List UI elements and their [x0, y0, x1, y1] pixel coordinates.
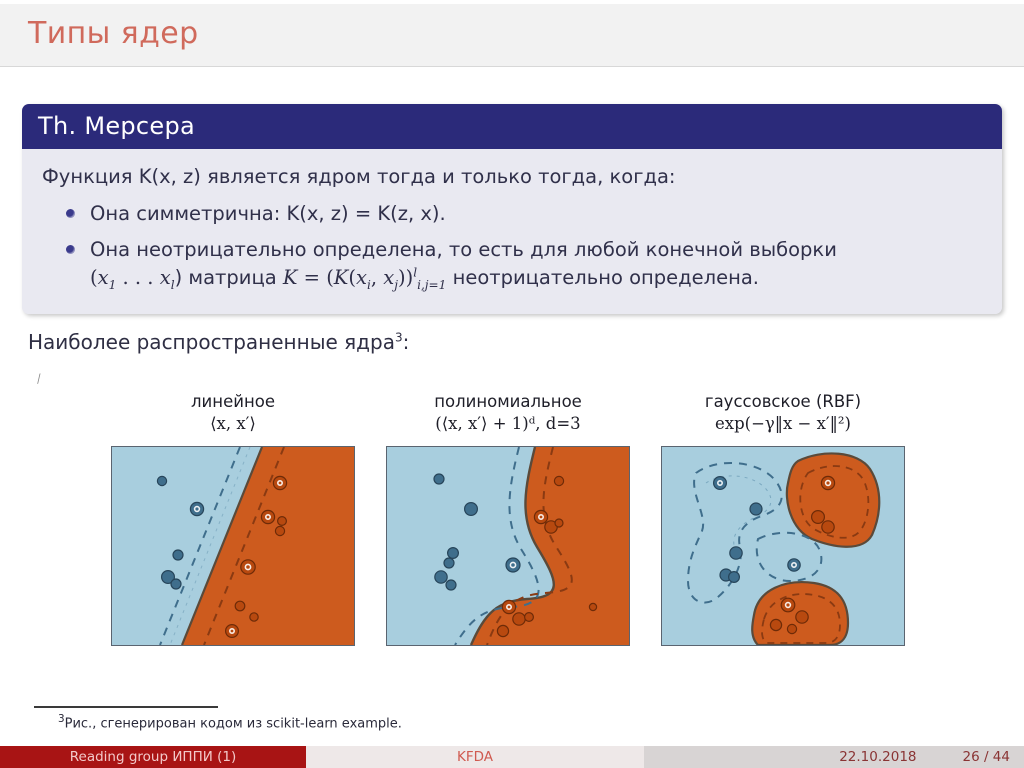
slide-status-bar: Reading group ИППИ (1) KFDA 22.10.2018 2… — [0, 746, 1024, 768]
bullet-dot-icon — [66, 209, 75, 218]
panel-formula-rbf: exp(−γ‖x − x′‖²) — [658, 414, 908, 433]
theorem-lead-text: Функция K(x, z) является ядром тогда и т… — [42, 163, 984, 191]
kernels-intro-line: Наиболее распространенные ядра3: — [28, 330, 409, 354]
footnote-divider — [34, 706, 218, 708]
kernel-figure: линейное ⟨x, x′⟩ — [108, 392, 924, 682]
kernel-panel-linear: линейное ⟨x, x′⟩ — [108, 392, 358, 433]
footnote-body: Рис., сгенерирован кодом из scikit-learn… — [65, 716, 402, 731]
theorem-body: Функция K(x, z) является ядром тогда и т… — [22, 149, 1002, 314]
math-x1: x — [98, 266, 109, 289]
kernel-panel-polynomial: полиномиальное (⟨x, x′⟩ + 1)ᵈ, d=3 — [383, 392, 633, 433]
math-xj: x — [383, 266, 394, 289]
bullet-dot-icon — [66, 245, 75, 254]
plot-rbf — [661, 446, 905, 646]
list-item: Она симметрична: K(x, z) = K(z, x). — [66, 200, 984, 228]
footnote-superscript: 3 — [58, 713, 65, 725]
math-comma: , — [371, 266, 383, 289]
math-K-function: K — [334, 266, 349, 289]
plot-rbf-svg — [662, 447, 904, 645]
plot-linear — [111, 446, 355, 646]
stray-tick-mark-icon: ⁄ — [36, 372, 42, 386]
kernels-intro-superscript: 3 — [395, 330, 403, 344]
plot-linear-svg — [112, 447, 354, 645]
page-title: Типы ядер — [28, 16, 199, 51]
status-page-number: 26 / 44 — [963, 749, 1011, 765]
math-matrix-sub: i,j=1 — [417, 278, 446, 292]
bullet-text-psd-line2: (x1 . . . xl) матрица K = (K(xi, xj))li,… — [90, 264, 984, 294]
theorem-heading: Th. Мерсера — [22, 104, 1002, 149]
status-right-group: 22.10.2018 26 / 44 — [644, 746, 1024, 768]
slide-root: Типы ядер Th. Мерсера Функция K(x, z) яв… — [0, 0, 1024, 768]
math-args-close: )) — [398, 266, 413, 289]
status-date: 22.10.2018 — [839, 749, 916, 765]
panel-formula-linear: ⟨x, x′⟩ — [108, 414, 358, 433]
plot-polynomial — [386, 446, 630, 646]
status-left-group: Reading group ИППИ (1) — [0, 746, 306, 768]
panel-title-linear: линейное — [108, 392, 358, 412]
kernels-intro-text: Наиболее распространенные ядра — [28, 330, 395, 354]
kernel-panel-rbf: гауссовское (RBF) exp(−γ‖x − x′‖²) — [658, 392, 908, 433]
math-matrix-word: ) матрица — [175, 266, 283, 289]
bullet-text-psd-line1: Она неотрицательно определена, то есть д… — [90, 236, 984, 264]
math-equals-open: = ( — [297, 266, 333, 289]
panel-title-polynomial: полиномиальное — [383, 392, 633, 412]
math-args-open: ( — [348, 266, 356, 289]
theorem-block: Th. Мерсера Функция K(x, z) является ядр… — [22, 104, 1002, 314]
math-dots: . . . — [116, 266, 159, 289]
plot-polynomial-svg — [387, 447, 629, 645]
math-K-symbol: K — [283, 266, 298, 289]
panel-formula-polynomial: (⟨x, x′⟩ + 1)ᵈ, d=3 — [383, 414, 633, 433]
theorem-bullet-list: Она симметрична: K(x, z) = K(z, x). Она … — [40, 200, 984, 294]
status-talk-title: KFDA — [306, 746, 644, 768]
math-tail-text: неотрицательно определена. — [446, 266, 759, 289]
bullet-text-symmetric: Она симметрична: K(x, z) = K(z, x). — [90, 202, 446, 225]
slide-title-bar: Типы ядер — [0, 4, 1024, 67]
math-xi: x — [356, 266, 367, 289]
kernels-intro-colon: : — [403, 330, 410, 354]
footnote-text: 3Рис., сгенерирован кодом из scikit-lear… — [58, 713, 402, 731]
math-paren-open: ( — [90, 266, 98, 289]
list-item: Она неотрицательно определена, то есть д… — [66, 236, 984, 294]
math-xl: x — [160, 266, 171, 289]
panel-title-rbf: гауссовское (RBF) — [658, 392, 908, 412]
